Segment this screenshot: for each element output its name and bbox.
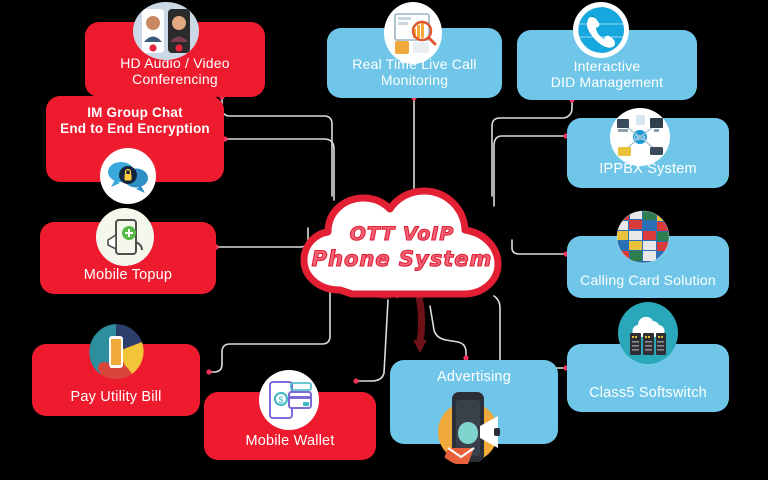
video-call-icon [133,2,199,60]
chat-lock-icon [100,148,156,204]
wallet-phone-card-icon: $ [259,370,319,430]
node-label-line2: End to End Encryption [46,121,224,137]
analytics-magnifier-icon [384,2,442,64]
node-label-line1: Pay Utility Bill [32,389,200,406]
node-label-line1: Mobile Wallet [204,433,376,450]
center-cloud [296,186,508,302]
node-label-line1: Calling Card Solution [567,272,729,288]
mobile-topup-icon [96,208,154,266]
node-label-line2: DID Management [517,74,697,90]
node-label-line1: Advertising [390,369,558,386]
node-label-line1: Class5 Softswitch [567,385,729,402]
node-label-line1: IM Group Chat [46,105,224,121]
node-label-line1: Interactive [517,58,697,74]
megaphone-phone-icon [430,386,506,466]
diagram-canvas: HD Audio / Video Conferencing IM Group C… [0,0,768,480]
utility-wheel-icon [86,322,146,382]
svg-text:$: $ [278,395,283,405]
cloud-servers-icon [618,302,678,364]
globe-phone-icon [573,2,629,58]
node-label-line2: Monitoring [327,72,502,88]
node-label-line2: Conferencing [85,71,265,87]
node-label-line1: Mobile Topup [40,267,216,284]
network-devices-icon: PBX [610,108,670,166]
flag-globe-icon [614,208,672,266]
